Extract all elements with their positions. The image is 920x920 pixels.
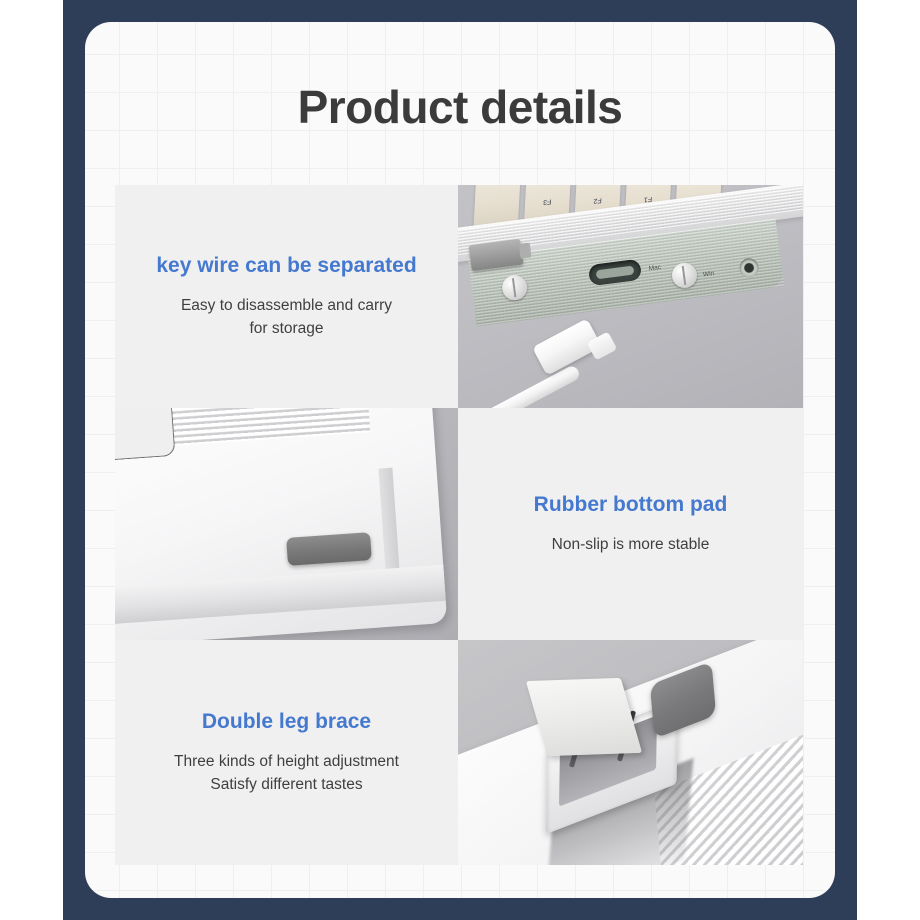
keycap-label-f3: F3 — [543, 198, 552, 206]
feature-heading-rubber-pad: Rubber bottom pad — [534, 492, 728, 518]
feature-panel-grid: key wire can be separated Easy to disass… — [115, 185, 803, 865]
feature-photo-keyboard-bottom — [115, 408, 458, 640]
feature-subtext-key-wire: Easy to disassemble and carry for storag… — [181, 295, 392, 340]
feature-subtext-leg-brace: Three kinds of height adjustment Satisfy… — [174, 751, 399, 796]
content-card: Product details key wire can be separate… — [85, 22, 835, 898]
feature-text-leg-brace: Double leg brace Three kinds of height a… — [115, 640, 458, 865]
leg-brace-illustration — [458, 640, 803, 865]
switch-label-win: Win — [703, 270, 715, 278]
feature-photo-leg-brace — [458, 640, 803, 865]
keyboard-rear-io-illustration: F3 F2 F1 — [458, 185, 803, 408]
toggle-switch-connection — [501, 274, 529, 302]
audio-jack — [738, 257, 759, 278]
usb-c-cable — [458, 335, 668, 357]
page-title: Product details — [85, 80, 835, 134]
keyboard-bottom-illustration — [115, 408, 458, 640]
switch-label-mac: Mac — [648, 264, 661, 273]
product-details-page: Product details key wire can be separate… — [0, 0, 920, 920]
feature-text-key-wire: key wire can be separated Easy to disass… — [115, 185, 458, 408]
keyboard-corner-notch — [115, 408, 176, 464]
keycap-label-f2: F2 — [593, 196, 602, 204]
feature-text-rubber-pad: Rubber bottom pad Non-slip is more stabl… — [458, 408, 803, 640]
usb-c-port — [588, 259, 642, 287]
cable-cord — [458, 364, 582, 408]
page-title-container: Product details — [85, 80, 835, 134]
feature-heading-leg-brace: Double leg brace — [202, 709, 371, 735]
feature-subtext-rubber-pad: Non-slip is more stable — [552, 534, 710, 556]
rubber-bottom-pad — [286, 532, 372, 566]
toggle-switch-os — [670, 261, 698, 289]
feature-heading-key-wire: key wire can be separated — [156, 253, 416, 279]
feature-photo-keyboard-rear-io: F3 F2 F1 — [458, 185, 803, 408]
